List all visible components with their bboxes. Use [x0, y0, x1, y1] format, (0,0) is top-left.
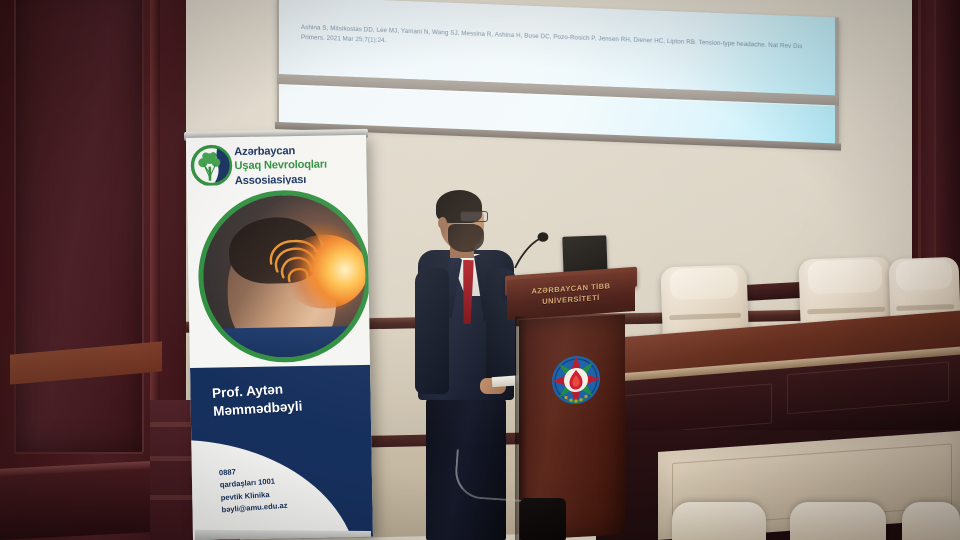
floor-bag	[520, 498, 566, 540]
speaker-glasses-icon	[460, 211, 488, 222]
brain-glow	[281, 234, 368, 309]
azerbaijan-state-emblem-icon	[549, 352, 603, 409]
projection-screen: Ashina S, Mitsikostas DD, Lee MJ, Yamani…	[277, 0, 839, 146]
presidium-panel-left	[620, 383, 772, 435]
banner-header: Azərbaycan Uşaq Nevroloqları Assosiasiya…	[186, 135, 367, 190]
banner-photo	[186, 183, 373, 376]
banner-presenter-name: Prof. Aytən Məmmədbəyli	[212, 376, 364, 420]
conference-photo: Ashina S, Mitsikostas DD, Lee MJ, Yamani…	[0, 0, 960, 540]
banner-org-title: Azərbaycan Uşaq Nevroloqları Assosiasiya…	[234, 143, 365, 188]
chair-headrest	[808, 259, 883, 294]
child-brain-illustration	[197, 189, 372, 364]
banner-body: Prof. Aytən Məmmədbəyli 0887 qardaşları …	[190, 365, 373, 540]
speaker-ear	[438, 217, 447, 229]
foreground-chair	[672, 502, 766, 540]
microphone-icon	[511, 228, 555, 270]
slide-citation-text: Ashina S, Mitsikostas DD, Lee MJ, Yamani…	[301, 23, 811, 62]
presidium-panel-right	[787, 361, 949, 414]
chair-headrest	[669, 267, 739, 301]
wood-panel-inset	[14, 0, 144, 454]
speaker-beard	[448, 224, 484, 252]
association-logo-icon	[189, 143, 234, 188]
speaker-arm-left	[415, 268, 449, 394]
foreground-chair	[902, 502, 960, 540]
photo-lower-band	[204, 326, 366, 359]
foreground-chair	[790, 502, 886, 540]
rollup-banner: Azərbaycan Uşaq Nevroloqları Assosiasiya…	[186, 135, 373, 540]
banner-contact-block: 0887 qardaşları 1001 pevtik Klinika bəyl…	[219, 457, 372, 517]
chair-headrest	[896, 259, 953, 292]
